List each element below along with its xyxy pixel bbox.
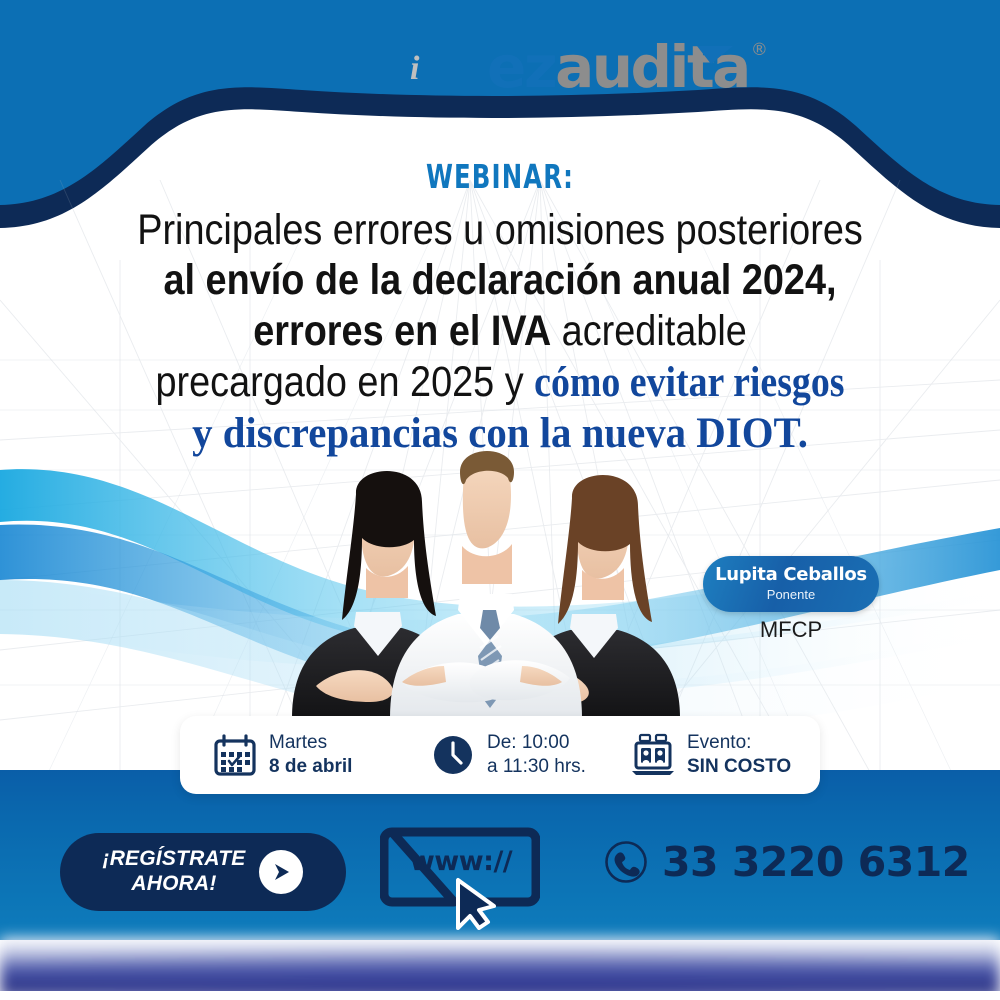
- info-item-date: Martes 8 de abril: [212, 731, 430, 779]
- speaker-certification: MFCP: [703, 618, 879, 642]
- speaker-block: Lupita Ceballos Ponente MFCP: [703, 556, 879, 642]
- phone-circle-icon: [604, 840, 648, 884]
- footer-white-edge: [0, 991, 1000, 1000]
- phone-number: 33 3220 6312: [662, 842, 970, 883]
- info-item-time: De: 10:00 a 11:30 hrs.: [430, 731, 630, 779]
- calendar-icon: [212, 732, 258, 778]
- speaker-name: Lupita Ceballos: [711, 565, 871, 585]
- business-team-photo: [262, 450, 710, 718]
- headline-line-4: precargado en 2025 y cómo evitar riesgos: [60, 357, 940, 409]
- logo-swoosh-icon: [695, 44, 735, 66]
- headline-line-4-light: precargado en 2025 y: [155, 358, 534, 406]
- info-text-cost: Evento: SIN COSTO: [687, 731, 791, 779]
- date-label: Martes: [269, 731, 352, 755]
- headline-line-3-light: acreditable: [551, 307, 747, 355]
- time-label: De: 10:00: [487, 731, 586, 755]
- headline-line-1-text: Principales errores u omisiones posterio…: [137, 206, 863, 254]
- headline-kicker: WEBINAR:: [130, 160, 870, 195]
- speaker-role: Ponente: [711, 588, 871, 602]
- event-details-card: Martes 8 de abril De: 10:00 a 11:30 hrs.: [180, 716, 820, 794]
- speaker-badge: Lupita Ceballos Ponente: [703, 556, 879, 612]
- cost-value: SIN COSTO: [687, 755, 791, 779]
- headline-line-4-blue: cómo evitar riesgos: [534, 359, 844, 406]
- headline-block: WEBINAR: Principales errores u omisiones…: [0, 160, 1000, 459]
- cursor-arrow-icon: [458, 880, 494, 928]
- webinar-poster: i ez audita ® WEBINAR: Principales error…: [0, 0, 1000, 1000]
- logo-text-ez: ez: [487, 38, 555, 96]
- headline-line-3: errores en el IVA acreditable: [60, 306, 940, 357]
- clock-icon: [430, 732, 476, 778]
- play-icon: [259, 850, 303, 894]
- headline-line-1: Principales errores u omisiones posterio…: [60, 205, 940, 256]
- info-text-date: Martes 8 de abril: [269, 731, 352, 779]
- date-value: 8 de abril: [269, 755, 352, 779]
- cost-label: Evento:: [687, 731, 791, 755]
- headline-line-2: al envío de la declaración anual 2024,: [60, 255, 940, 306]
- web-url-text: www://: [404, 848, 518, 875]
- webinar-screen-icon: [630, 732, 676, 778]
- registered-trademark-icon: ®: [751, 42, 768, 59]
- phone-contact[interactable]: 33 3220 6312: [604, 840, 970, 884]
- register-label-line1: ¡REGÍSTRATE: [103, 847, 246, 870]
- headline-line-2-text: al envío de la declaración anual 2024,: [163, 256, 836, 304]
- watermark-i-mark: i: [410, 52, 419, 86]
- info-item-cost: Evento: SIN COSTO: [630, 731, 820, 779]
- register-button-label: ¡REGÍSTRATE AHORA!: [103, 847, 246, 897]
- header: i ez audita ®: [0, 0, 1000, 130]
- register-label-line2: AHORA!: [131, 872, 216, 895]
- headline-line-3-bold: errores en el IVA: [253, 307, 551, 355]
- register-button[interactable]: ¡REGÍSTRATE AHORA!: [60, 833, 346, 911]
- info-text-time: De: 10:00 a 11:30 hrs.: [487, 731, 586, 779]
- time-value: a 11:30 hrs.: [487, 755, 586, 779]
